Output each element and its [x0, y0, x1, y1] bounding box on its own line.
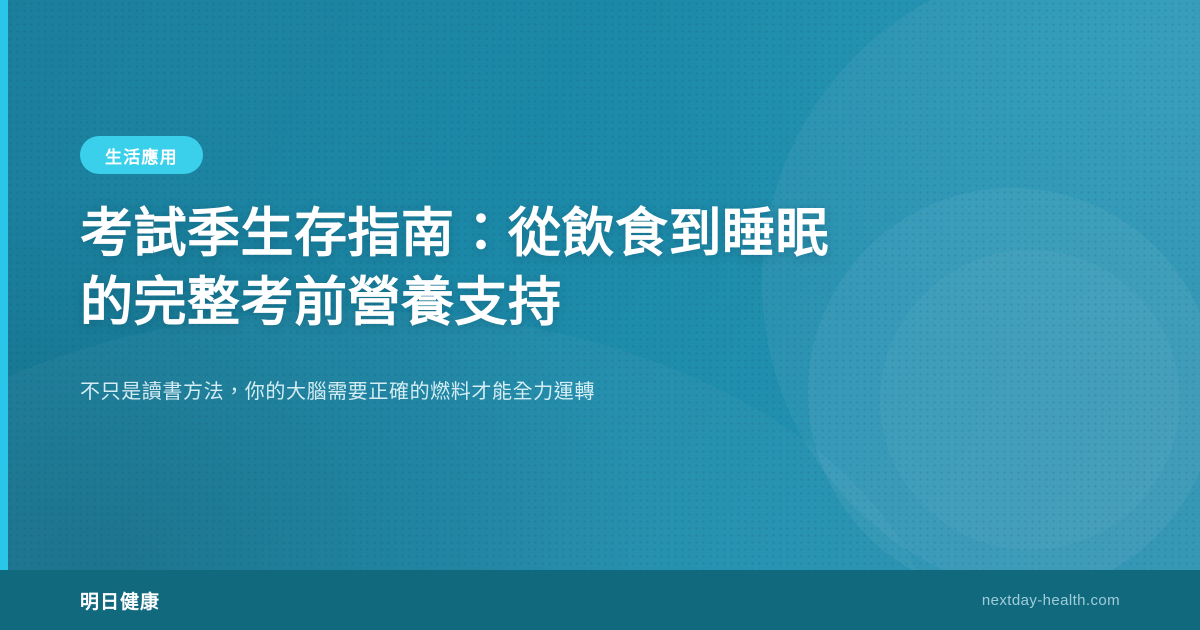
category-badge[interactable]: 生活應用	[80, 136, 203, 174]
left-accent-bar	[0, 0, 8, 570]
site-domain: nextday-health.com	[982, 592, 1120, 609]
title-line-1: 考試季生存指南：從飲食到睡眠	[80, 204, 829, 263]
card-content: 生活應用 考試季生存指南：從飲食到睡眠 的完整考前營養支持 不只是讀書方法，你的…	[80, 0, 960, 570]
title-line-2: 的完整考前營養支持	[80, 273, 562, 332]
page-subtitle: 不只是讀書方法，你的大腦需要正確的燃料才能全力運轉	[80, 376, 960, 408]
brand-name: 明日健康	[80, 587, 160, 614]
og-share-card: 生活應用 考試季生存指南：從飲食到睡眠 的完整考前營養支持 不只是讀書方法，你的…	[0, 0, 1200, 630]
card-footer: 明日健康 nextday-health.com	[0, 570, 1200, 630]
page-title: 考試季生存指南：從飲食到睡眠 的完整考前營養支持	[80, 200, 910, 338]
